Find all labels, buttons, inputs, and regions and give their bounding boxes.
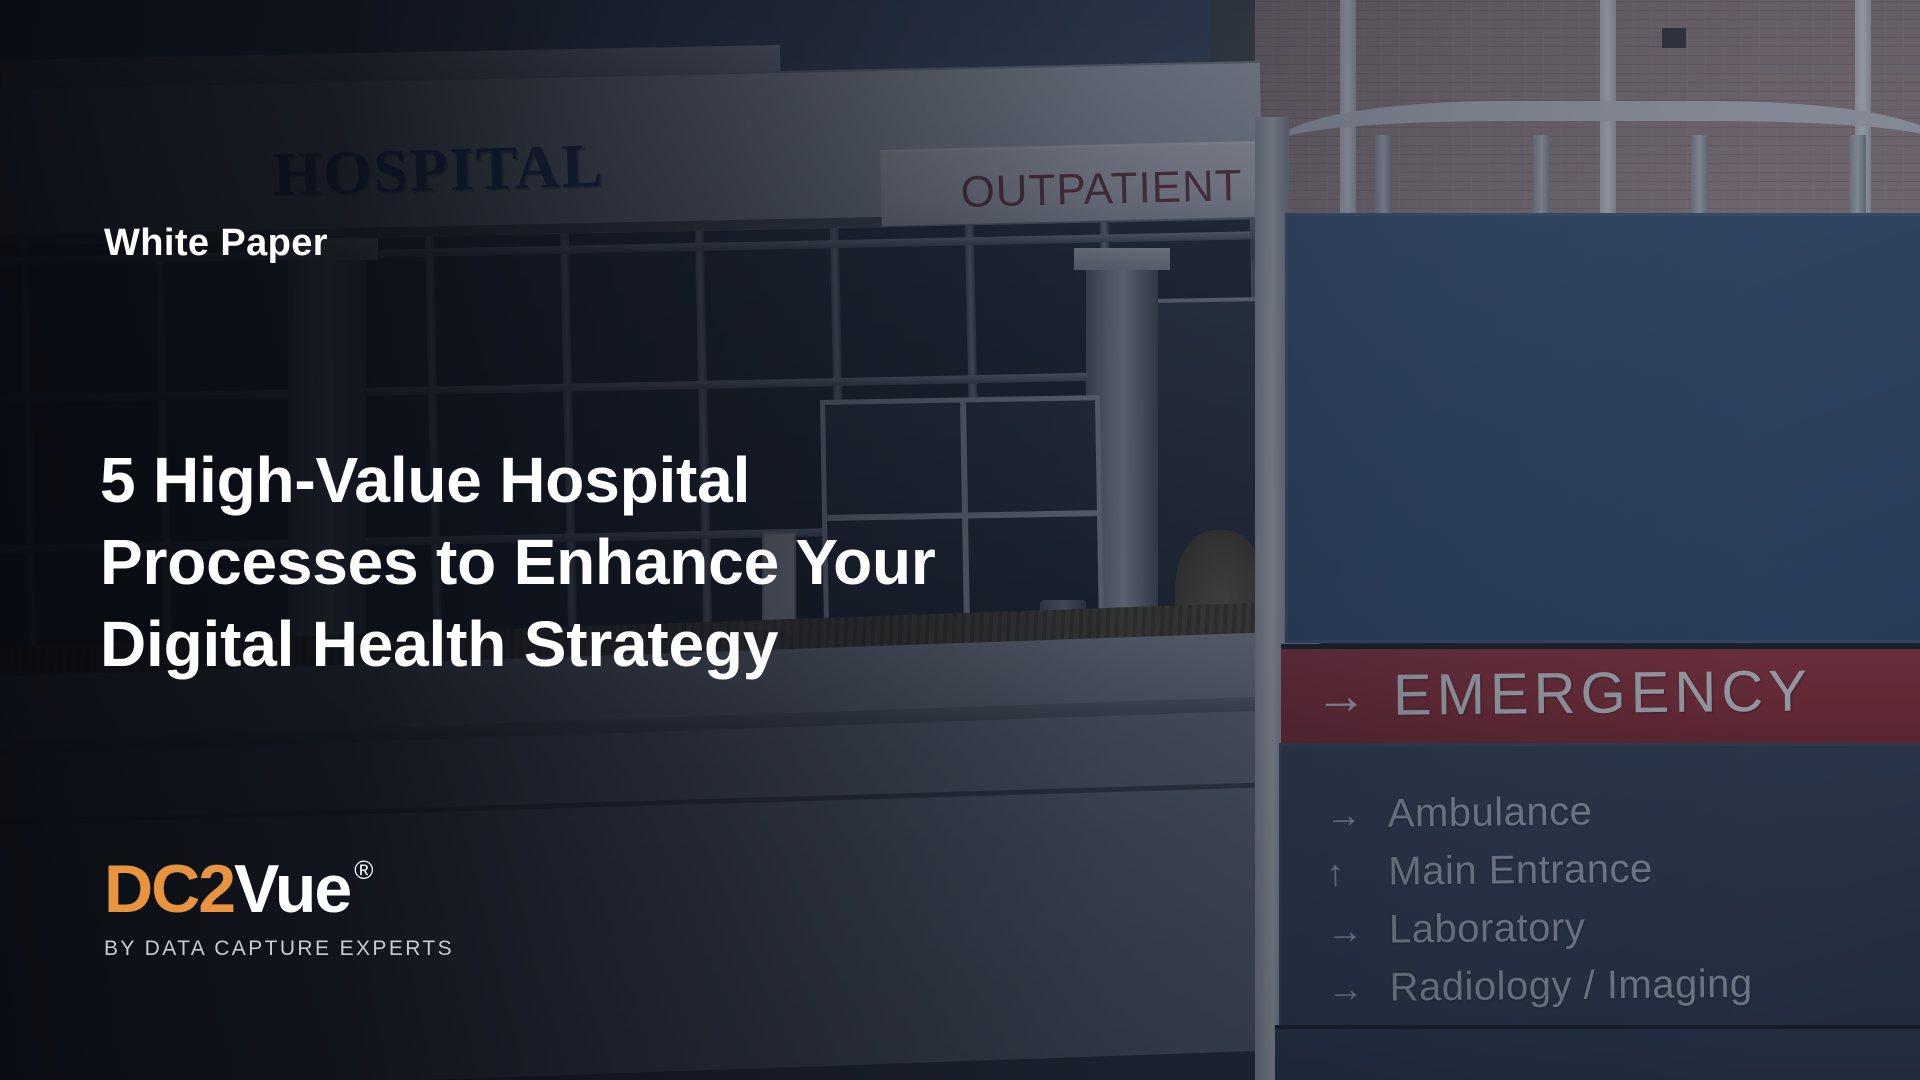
logo-wordmark-dc2: DC2 xyxy=(104,855,234,923)
dc2vue-logo: DC2 Vue ® BY DATA CAPTURE EXPERTS xyxy=(104,855,454,961)
white-paper-cover: HOSPITAL OUTPATIENT xyxy=(0,0,1920,1080)
document-type-eyebrow: White Paper xyxy=(104,222,328,265)
registered-trademark-icon: ® xyxy=(354,857,371,883)
logo-wordmark-vue: Vue xyxy=(234,855,350,923)
page-title-line-2: Processes to Enhance Your xyxy=(100,522,1120,604)
cover-content: White Paper 5 High-Value Hospital Proces… xyxy=(0,0,1920,1080)
page-title-line-1: 5 High-Value Hospital xyxy=(100,440,1120,522)
page-title-line-3: Digital Health Strategy xyxy=(100,604,1120,686)
logo-tagline: BY DATA CAPTURE EXPERTS xyxy=(104,937,454,961)
page-title: 5 High-Value Hospital Processes to Enhan… xyxy=(100,440,1120,686)
logo-wordmark: DC2 Vue ® xyxy=(104,855,454,923)
